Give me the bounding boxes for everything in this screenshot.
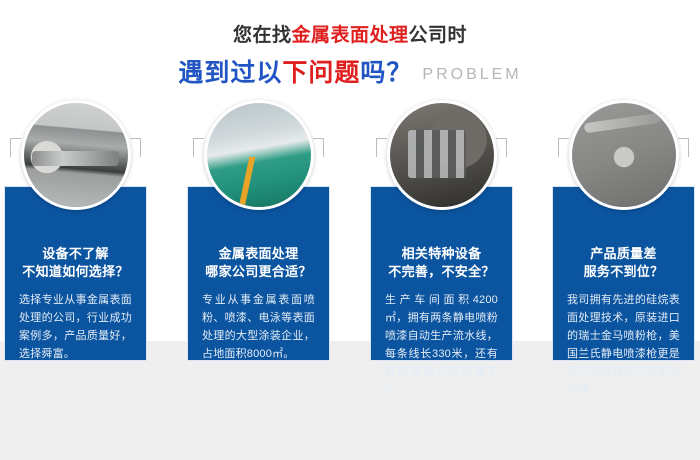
headline-primary-post: 公司时 [409,25,468,46]
headline-primary: 您在找金属表面处理公司时 [0,22,700,50]
screws-nuts-photo [569,100,679,210]
card-heading-3-line1: 相关特种设备 [371,245,512,263]
workshop-corridor-photo [204,100,314,210]
card-heading-2-line1: 金属表面处理 [188,245,329,263]
card-description-3: 生产车间面积4200㎡，拥有两条静电喷粉喷漆自动生产流水线，每条线长330米，还… [385,291,498,399]
card-body-2: 金属表面处理 哪家公司更合适？ 专业从事金属表面喷粉、喷漆、电泳等表面处理的大型… [187,186,330,361]
card-heading-4-line2: 服务不到位？ [553,263,694,281]
problem-card-2: 表面处理找舜富 金属表面处理 哪家公司更合适？ 专业从事金属表面喷粉、喷漆、电泳… [187,138,330,361]
card-body-3: 相关特种设备 不完善，不安全？ 生产车间面积4200㎡，拥有两条静电喷粉喷漆自动… [370,186,513,361]
headline-secondary-post: 吗？ [360,59,412,87]
card-description-4: 我司拥有先进的硅烷表面处理技术，原装进口的瑞士金马喷粉枪，美国兰氏静电喷漆枪更是… [567,291,680,399]
lathe-machine-photo [21,100,131,210]
problem-card-3: 表面处理找舜富 相关特种设备 不完善，不安全？ 生产车间面积4200㎡，拥有两条… [370,138,513,361]
headline-primary-highlight: 金属表面处理 [291,25,408,46]
card-body-1: 设备不了解 不知道如何选择？ 选择专业从事金属表面处理的公司，行业成功案例多，产… [4,186,147,361]
card-heading-1-line1: 设备不了解 [5,245,146,263]
card-heading-4-line1: 产品质量差 [553,245,694,263]
headline-secondary-pre: 遇到过以 [178,59,282,87]
headline-secondary-highlight: 下问题 [282,59,360,87]
card-description-2: 专业从事金属表面喷粉、喷漆、电泳等表面处理的大型涂装企业，占地面积8000㎡。 [202,291,315,363]
card-body-4: 产品质量差 服务不到位？ 我司拥有先进的硅烷表面处理技术，原装进口的瑞士金马喷粉… [552,186,695,361]
section-header: 您在找金属表面处理公司时 遇到过以下问题吗？PROBLEM [0,0,700,92]
card-heading-3-line2: 不完善，不安全？ [371,263,512,281]
headline-primary-pre: 您在找 [233,25,292,46]
card-heading-2-line2: 哪家公司更合适？ [188,263,329,281]
problem-card-1: 表面处理找舜富 设备不了解 不知道如何选择？ 选择专业从事金属表面处理的公司，行… [4,138,147,361]
problem-section: 您在找金属表面处理公司时 遇到过以下问题吗？PROBLEM 表面处理找舜富 设备… [0,0,700,460]
headline-secondary: 遇到过以下问题吗？PROBLEM [0,56,700,92]
headline-english-label: PROBLEM [422,66,521,83]
bolts-fixture-photo [387,100,497,210]
card-description-1: 选择专业从事金属表面处理的公司，行业成功案例多，产品质量好，选择舜富。 [19,291,132,363]
problem-card-4: 表面处理找舜富 产品质量差 服务不到位？ 我司拥有先进的硅烷表面处理技术，原装进… [552,138,695,361]
card-heading-1-line2: 不知道如何选择？ [5,263,146,281]
